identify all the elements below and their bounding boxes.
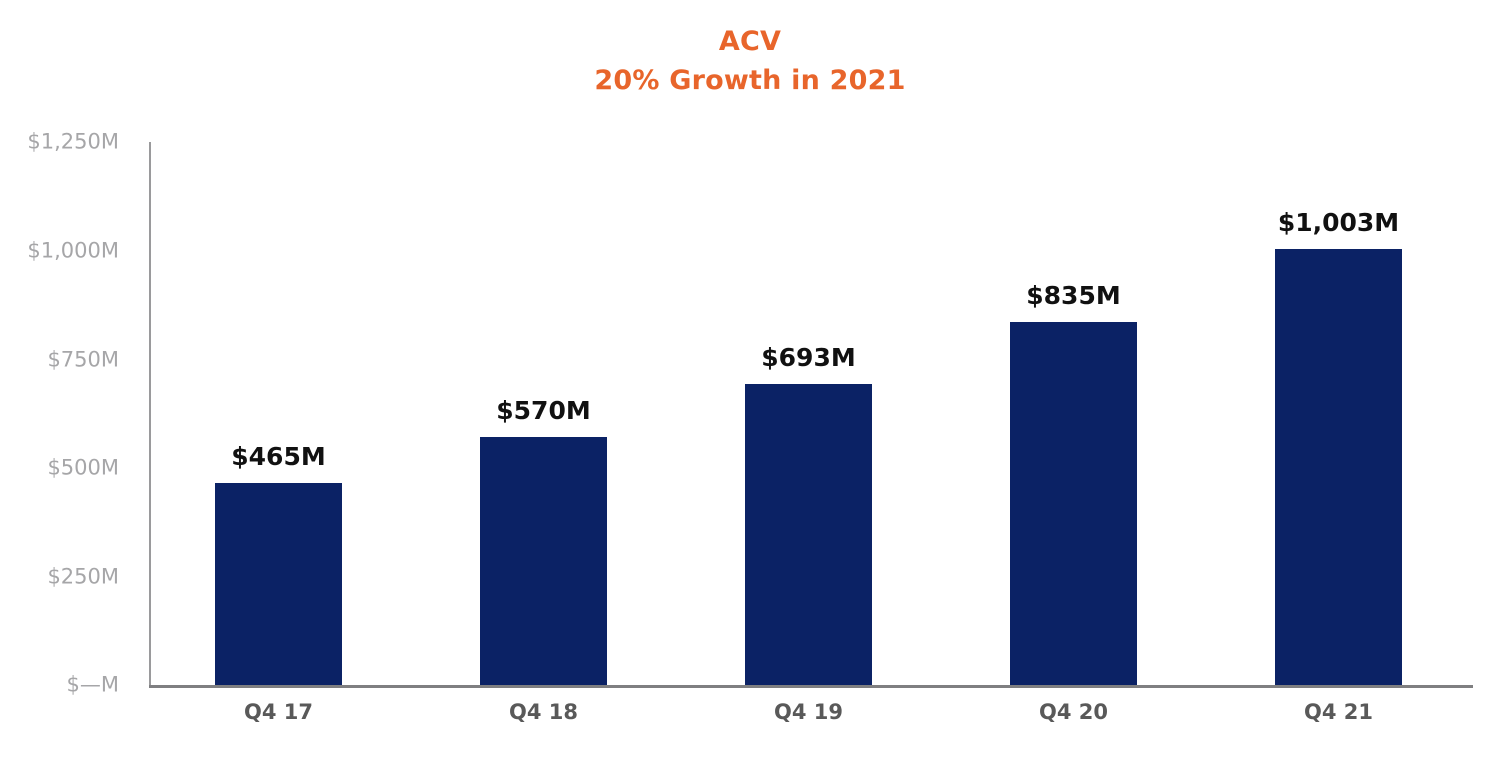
x-axis-tick-labels: Q4 17 Q4 18 Q4 19 Q4 20 Q4 21 — [149, 700, 1473, 732]
y-axis-tick-labels: $1,250M $1,000M $750M $500M $250M $—M — [0, 142, 132, 686]
bar-q4-21[interactable] — [1275, 249, 1402, 685]
chart-title-line-2: 20% Growth in 2021 — [0, 61, 1500, 100]
bar-value-label-q4-17: $465M — [175, 444, 382, 469]
bar-value-label-q4-18: $570M — [440, 398, 647, 423]
chart-title-line-1: ACV — [0, 22, 1500, 61]
plot-area: $465M $570M $693M $835M $1,003M — [149, 142, 1473, 686]
y-axis-line — [149, 142, 151, 686]
y-tick-label-750: $750M — [0, 350, 119, 371]
y-tick-label-500: $500M — [0, 458, 119, 479]
x-tick-label-q4-21: Q4 21 — [1235, 700, 1442, 724]
bar-value-label-q4-21: $1,003M — [1235, 210, 1442, 235]
bar-q4-18[interactable] — [480, 437, 607, 685]
chart-title-block: ACV 20% Growth in 2021 — [0, 22, 1500, 100]
bar-q4-17[interactable] — [215, 483, 342, 685]
bar-value-label-q4-20: $835M — [970, 283, 1177, 308]
y-tick-label-1000: $1,000M — [0, 241, 119, 262]
x-axis-line — [149, 685, 1473, 688]
y-tick-label-250: $250M — [0, 567, 119, 588]
bar-value-label-q4-19: $693M — [705, 345, 912, 370]
bar-q4-19[interactable] — [745, 384, 872, 685]
x-tick-label-q4-19: Q4 19 — [705, 700, 912, 724]
x-tick-label-q4-17: Q4 17 — [175, 700, 382, 724]
bar-q4-20[interactable] — [1010, 322, 1137, 685]
x-tick-label-q4-20: Q4 20 — [970, 700, 1177, 724]
y-tick-label-1250: $1,250M — [0, 132, 119, 153]
y-tick-label-0: $—M — [0, 675, 119, 696]
x-tick-label-q4-18: Q4 18 — [440, 700, 647, 724]
